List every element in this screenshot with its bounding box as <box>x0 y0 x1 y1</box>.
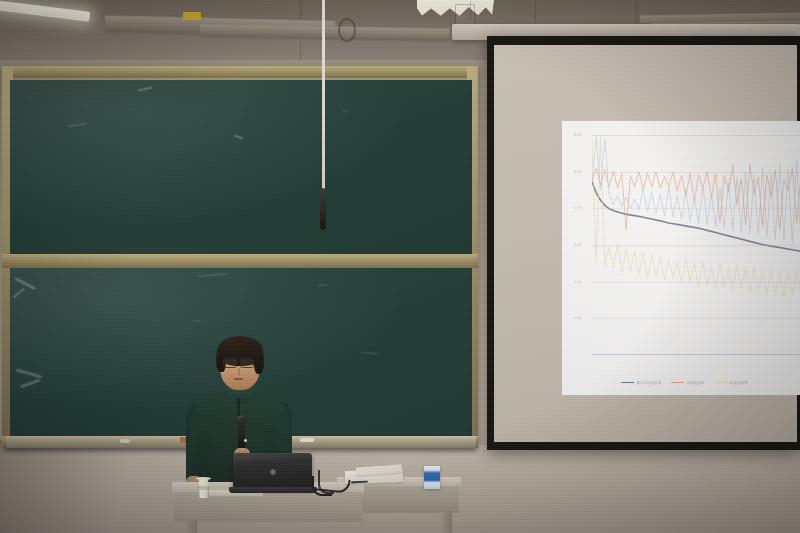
wall-shadow <box>0 440 170 533</box>
projector-screen: 6.005.004.003.002.001.00 ———————————————… <box>487 36 800 450</box>
hair-side-right <box>254 346 264 374</box>
pull-cord[interactable] <box>322 0 325 190</box>
presentation-slide: 6.005.004.003.002.001.00 ———————————————… <box>562 121 800 395</box>
chalk-stick <box>120 439 130 443</box>
chart-legend-swatch <box>671 382 684 383</box>
glasses-right-lens <box>240 358 254 368</box>
chart-gridline <box>592 282 800 283</box>
blackboard-panel-upper <box>10 80 472 254</box>
chart-y-tick-label: 5.00 <box>574 170 581 174</box>
nose <box>238 368 240 375</box>
chart-series-line <box>592 137 800 297</box>
lecture-hall-photo: 6.005.004.003.002.001.00 ———————————————… <box>0 0 800 533</box>
ceiling-ring-icon <box>338 18 356 42</box>
duct-center <box>200 24 450 43</box>
fluorescent-light-left <box>0 0 90 22</box>
chart-legend: 累计平均收益率月度收益率年化波动率 <box>562 380 800 385</box>
laptop[interactable] <box>233 453 312 489</box>
chart-legend-label: 累计平均收益率 <box>637 380 662 385</box>
chart-legend-label: 年化波动率 <box>730 380 748 385</box>
microphone-indicator <box>244 439 247 442</box>
coffee-cup-sleeve <box>198 486 209 490</box>
chart-y-tick-label: 4.00 <box>574 206 581 210</box>
chart-y-tick-label: 3.00 <box>574 243 581 247</box>
chart-y-tick-label: 6.00 <box>574 133 581 137</box>
mouth <box>234 378 243 380</box>
pull-cord-handle[interactable] <box>320 188 326 230</box>
chart-x-axis <box>592 354 800 355</box>
chart-series-line <box>592 164 800 230</box>
chart-gridline <box>592 208 800 209</box>
chart-gridline <box>592 245 800 246</box>
chart-gridline <box>592 172 800 173</box>
glasses-bridge <box>235 361 240 362</box>
light-housing <box>183 12 201 20</box>
laptop-keyboard-base[interactable] <box>229 487 317 493</box>
tissue-box <box>424 466 440 489</box>
chart-legend-swatch <box>621 382 634 383</box>
chart-legend-label: 月度收益率 <box>687 380 705 385</box>
desk-leg-right <box>442 511 452 533</box>
chart-legend-item: 累计平均收益率 <box>621 380 661 385</box>
chart-legend-swatch <box>715 382 728 383</box>
laptop-logo-icon <box>270 469 276 475</box>
coffee-cup-rim <box>196 477 211 480</box>
chalk-stick <box>300 438 314 442</box>
chart-gridline <box>592 318 800 319</box>
chart-y-tick-label: 2.00 <box>574 280 581 284</box>
chart-legend-item: 月度收益率 <box>671 380 704 385</box>
cable-secondary <box>318 470 334 494</box>
screen-surface: 6.005.004.003.002.001.00 ———————————————… <box>494 45 797 442</box>
microphone <box>238 418 245 452</box>
chart-gridline <box>592 135 800 136</box>
desk-leg-left <box>186 520 197 533</box>
chart-plot-area: 6.005.004.003.002.001.00 ———————————————… <box>574 135 800 355</box>
chart-legend-item: 年化波动率 <box>715 380 748 385</box>
chart-y-tick-label: 1.00 <box>574 316 581 320</box>
glasses-left-lens <box>223 358 237 368</box>
